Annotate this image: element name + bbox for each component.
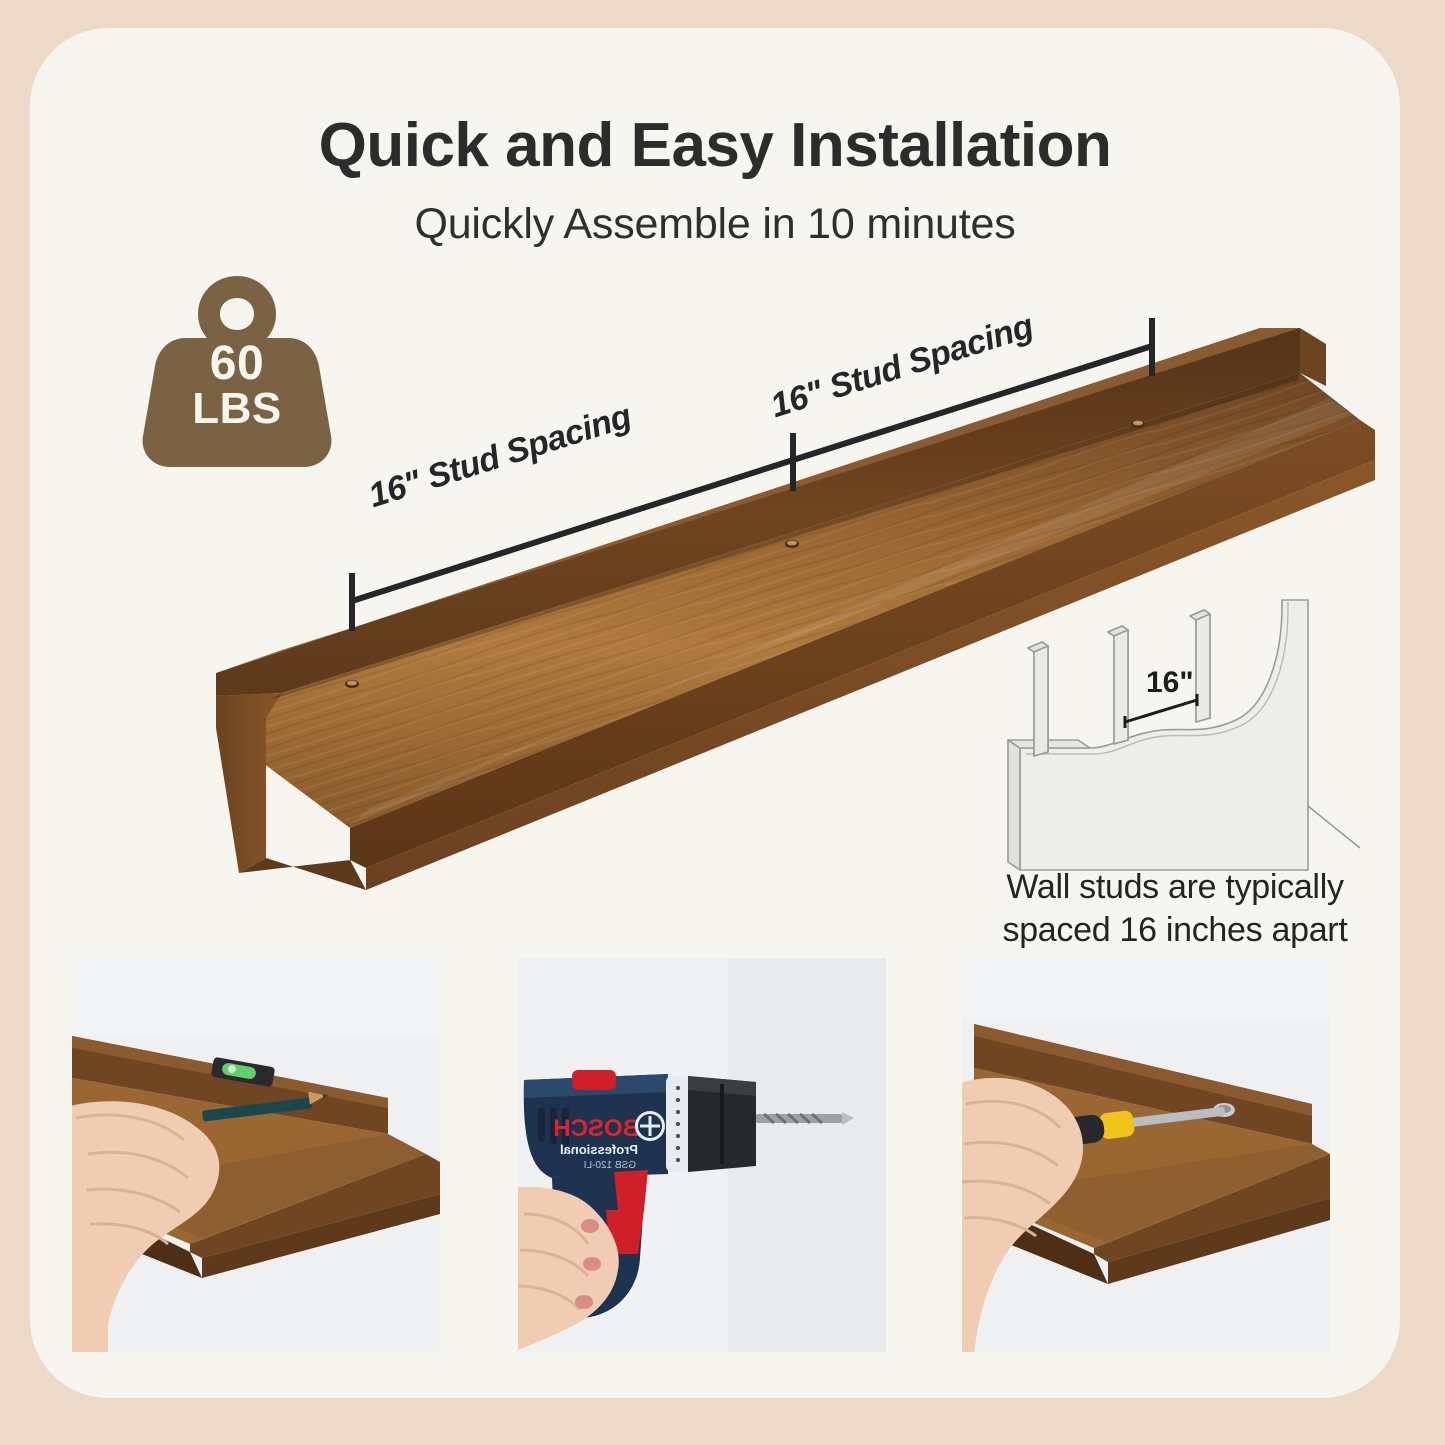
drill-brand-label: BOSCH (553, 1115, 640, 1142)
dimension-label-right: 16" Stud Spacing (766, 307, 1038, 426)
wall-studs-caption-line-2: spaced 16 inches apart (960, 909, 1390, 952)
step-photo-drill: BOSCH Professional GSB 120-LI (518, 958, 886, 1352)
page-title: Quick and Easy Installation (30, 110, 1400, 181)
page-subtitle: Quickly Assemble in 10 minutes (30, 200, 1400, 249)
weight-value: 60 (142, 336, 332, 391)
weight-unit: LBS (142, 384, 332, 434)
weight-capacity-badge: 60 LBS (142, 268, 332, 468)
wall-studs-caption-line-1: Wall studs are typically (960, 866, 1390, 909)
drill-brand-sub-label: Professional (560, 1142, 638, 1157)
wall-studs-caption: Wall studs are typically spaced 16 inche… (960, 866, 1390, 951)
stud (1028, 642, 1048, 756)
step-photo-screw (962, 958, 1330, 1352)
wall-studs-diagram (990, 588, 1390, 888)
infographic-card: Quick and Easy Installation Quickly Asse… (30, 28, 1400, 1398)
stud-spacing-label: 16" (1146, 666, 1194, 700)
drill-model-label: GSB 120-LI (584, 1160, 636, 1171)
step-photo-mark (72, 958, 440, 1352)
dimension-label-left: 16" Stud Spacing (364, 397, 636, 516)
